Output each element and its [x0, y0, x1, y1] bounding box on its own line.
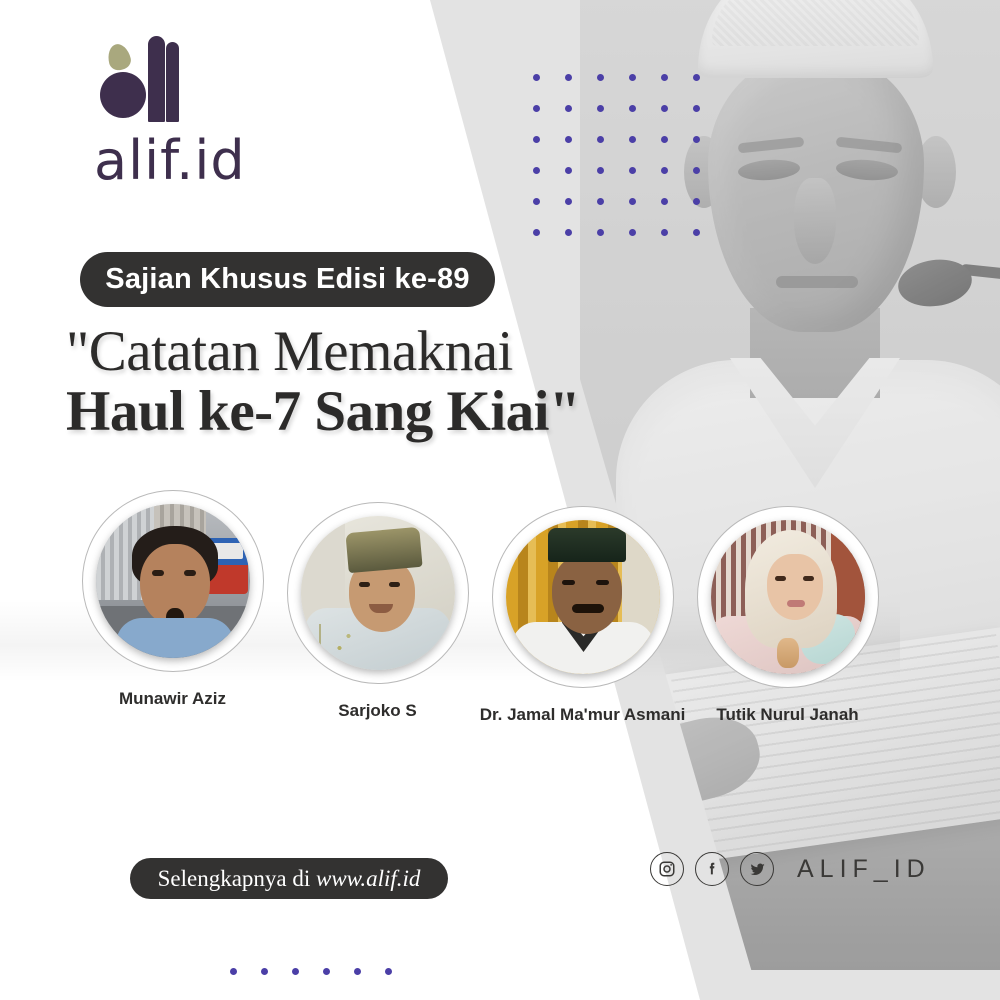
dot-grid-top — [520, 62, 712, 248]
cta-badge[interactable]: Selengkapnya di www.alif.id — [130, 858, 448, 899]
microphone-icon — [895, 255, 975, 311]
edition-badge-label: Sajian Khusus Edisi ke-89 — [105, 263, 469, 296]
speaker-name: Munawir Aziz — [119, 689, 226, 709]
speaker-name: Tutik Nurul Janah — [716, 705, 858, 725]
poster-headline: "Catatan Memaknai Haul ke-7 Sang Kiai" — [66, 322, 726, 443]
speaker-name: Sarjoko S — [338, 701, 416, 721]
avatar-ring — [697, 506, 879, 688]
hero-mouth — [776, 276, 858, 288]
twitter-icon[interactable] — [740, 852, 774, 886]
social-handle: ALIF_ID — [797, 855, 931, 884]
avatar — [711, 520, 865, 674]
logo-circle-shape — [100, 72, 146, 118]
edition-badge: Sajian Khusus Edisi ke-89 — [80, 252, 495, 307]
headline-line-2: Haul ke-7 Sang Kiai" — [66, 382, 726, 442]
speaker-item[interactable]: Tutik Nurul Janah — [685, 506, 890, 725]
avatar-photo-sarjoko-s — [301, 516, 455, 670]
logo-drop-shape — [105, 42, 133, 73]
avatar-ring — [287, 502, 469, 684]
alif-logo-mark-icon — [94, 36, 190, 124]
logo-stroke-inner — [166, 42, 179, 122]
logo-stroke-outer — [148, 36, 165, 122]
social-row: ALIF_ID — [650, 852, 931, 886]
avatar — [301, 516, 455, 670]
speaker-item[interactable]: Dr. Jamal Ma'mur Asmani — [480, 506, 685, 725]
facebook-icon[interactable] — [695, 852, 729, 886]
speaker-item[interactable]: Sarjoko S — [275, 502, 480, 725]
poster-canvas: alif.id Sajian Khusus Edisi ke-89 "Catat… — [0, 0, 1000, 1000]
hero-nose — [794, 178, 836, 264]
brand-name: alif.id — [94, 134, 246, 188]
speaker-list: Munawir Aziz Sarjoko S — [70, 490, 910, 725]
avatar-ring — [492, 506, 674, 688]
hero-kopiah-cap — [698, 0, 933, 78]
cta-url: www.alif.id — [316, 866, 420, 891]
avatar — [506, 520, 660, 674]
instagram-icon[interactable] — [650, 852, 684, 886]
brand-logo[interactable]: alif.id — [94, 36, 246, 188]
avatar — [96, 504, 250, 658]
avatar-photo-tutik-nurul-janah — [711, 520, 865, 674]
speaker-item[interactable]: Munawir Aziz — [70, 490, 275, 725]
cta-label: Selengkapnya di www.alif.id — [158, 866, 421, 892]
cta-prefix: Selengkapnya di — [158, 866, 316, 891]
avatar-ring — [82, 490, 264, 672]
headline-line-1: "Catatan Memaknai — [66, 322, 726, 382]
avatar-photo-jamal-mamur-asmani — [506, 520, 660, 674]
dot-grid-bottom — [218, 955, 404, 1000]
avatar-photo-munawir-aziz — [96, 504, 250, 658]
speaker-name: Dr. Jamal Ma'mur Asmani — [480, 705, 686, 725]
